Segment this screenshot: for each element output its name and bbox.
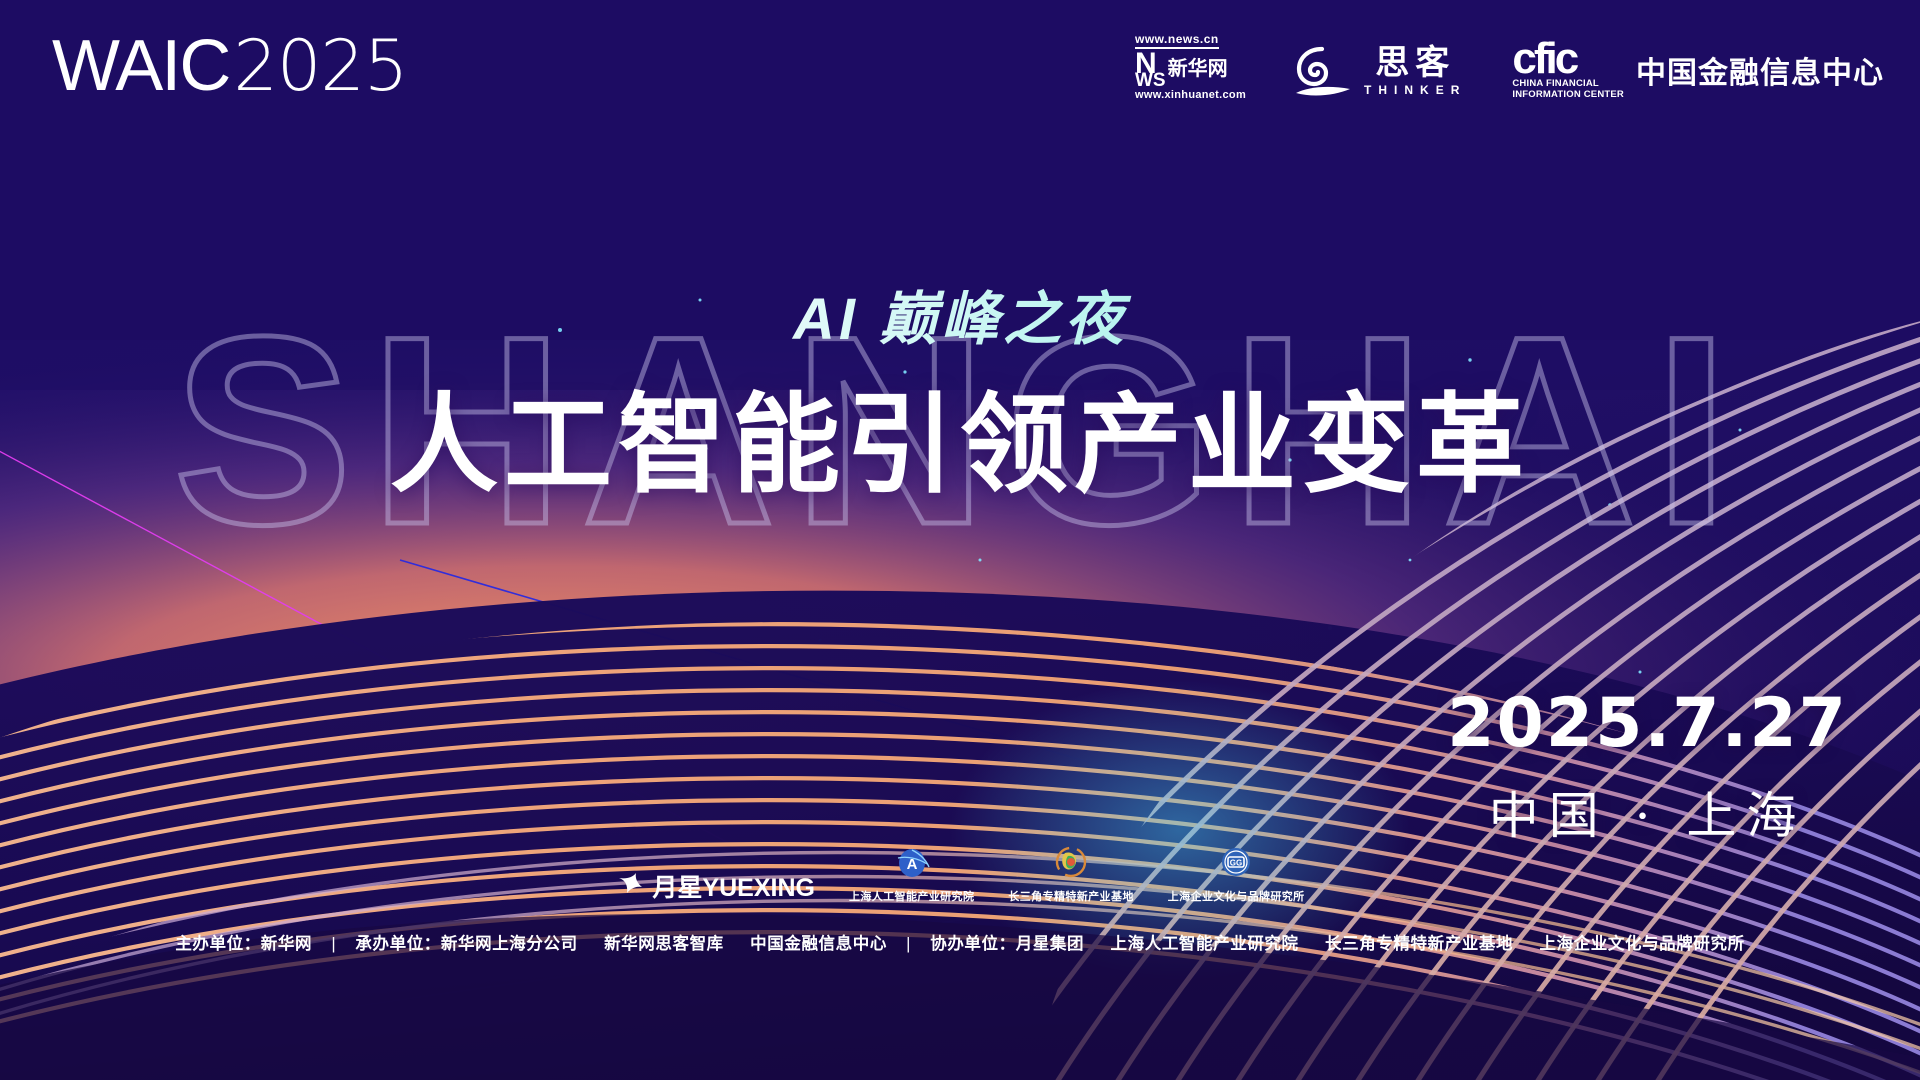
waic-logo: WAIC 2025 [52,30,407,102]
footer-divider-1: | [331,935,336,954]
partner-logos: www.news.cn N WS 新华网 www.xinhuanet.com [1135,32,1884,101]
yangtze-delta-label: 长三角专精特新产业基地 [1008,888,1133,904]
event-place: 中国 · 上海 [1447,776,1848,848]
yuexing-star-icon [615,871,645,901]
event-headline: 人工智能引领产业变革 [0,358,1920,514]
footer-credits: 主办单位：新华网 | 承办单位：新华网上海分公司 新华网思客智库 中国金融信息中… [0,930,1920,954]
event-date: 2025.7.27 [1447,690,1848,758]
header-bar: WAIC 2025 www.news.cn N WS 新华网 www.xinhu… [0,0,1920,130]
sponsor-logo-strip: 月星YUEXING A 上海人工智能产业研究院 长三角专精特新产业基地 [0,846,1920,904]
partner-logo-cfic: cfic CHINA FINANCIAL INFORMATION CENTER … [1512,39,1884,100]
sponsor-logo-shanghai-ai-institute: A 上海人工智能产业研究院 [849,846,974,904]
footer-organizer: 主办单位：新华网 [175,935,312,953]
svg-text:A: A [906,856,917,873]
footer-host-3: 中国金融信息中心 [750,935,887,953]
brand-institute-seal-icon: GG [1216,846,1256,884]
cfic-letters: cfic [1512,39,1624,79]
ai-institute-label: 上海人工智能产业研究院 [849,888,974,904]
ai-institute-globe-icon: A [892,846,932,884]
footer-host-2: 新华网思客智库 [604,935,724,953]
event-subtitle: AI 巅峰之夜 [0,272,1920,356]
footer-coorganizer: 协办单位：月星集团 [930,935,1084,953]
sponsor-logo-yuexing: 月星YUEXING [615,868,815,904]
waic-year: 2025 [233,31,407,101]
yangtze-delta-emblem-icon [1051,846,1091,884]
footer-coorganizer-4: 上海企业文化与品牌研究所 [1539,935,1744,953]
event-date-location: 2025.7.27 中国 · 上海 [1447,690,1848,848]
thinker-en-name: THINKER [1364,83,1466,97]
footer-divider-2: | [906,935,911,954]
footer-host: 承办单位：新华网上海分公司 [355,935,577,953]
xinhua-url-bottom: www.xinhuanet.com [1135,89,1246,101]
svg-text:GG: GG [1230,859,1242,868]
partner-logo-thinker: 思客 THINKER [1292,43,1466,101]
cfic-subtitle-line2: INFORMATION CENTER [1512,90,1624,101]
footer-coorganizer-2: 上海人工智能产业研究院 [1111,935,1299,953]
sponsor-logo-yangtze-delta-base: 长三角专精特新产业基地 [1008,846,1133,904]
cfic-cn-name: 中国金融信息中心 [1636,48,1884,92]
footer-coorganizer-3: 长三角专精特新产业基地 [1325,935,1513,953]
thinker-cn-name: 思客 [1375,46,1455,80]
yuexing-wordmark: 月星YUEXING [652,868,815,904]
xinhua-cn-name: 新华网 [1168,59,1228,79]
poster-canvas: SHANGHAI WAIC 2025 www.news.cn N WS 新华网 [0,0,1920,1080]
brand-institute-label: 上海企业文化与品牌研究所 [1168,888,1305,904]
sponsor-logo-shanghai-brand-institute: GG 上海企业文化与品牌研究所 [1168,846,1305,904]
xinhua-letter-ws: WS [1135,73,1166,88]
thinker-swirl-icon [1292,43,1354,101]
partner-logo-xinhua-news: www.news.cn N WS 新华网 www.xinhuanet.com [1135,32,1246,101]
waic-wordmark: WAIC [52,30,229,102]
